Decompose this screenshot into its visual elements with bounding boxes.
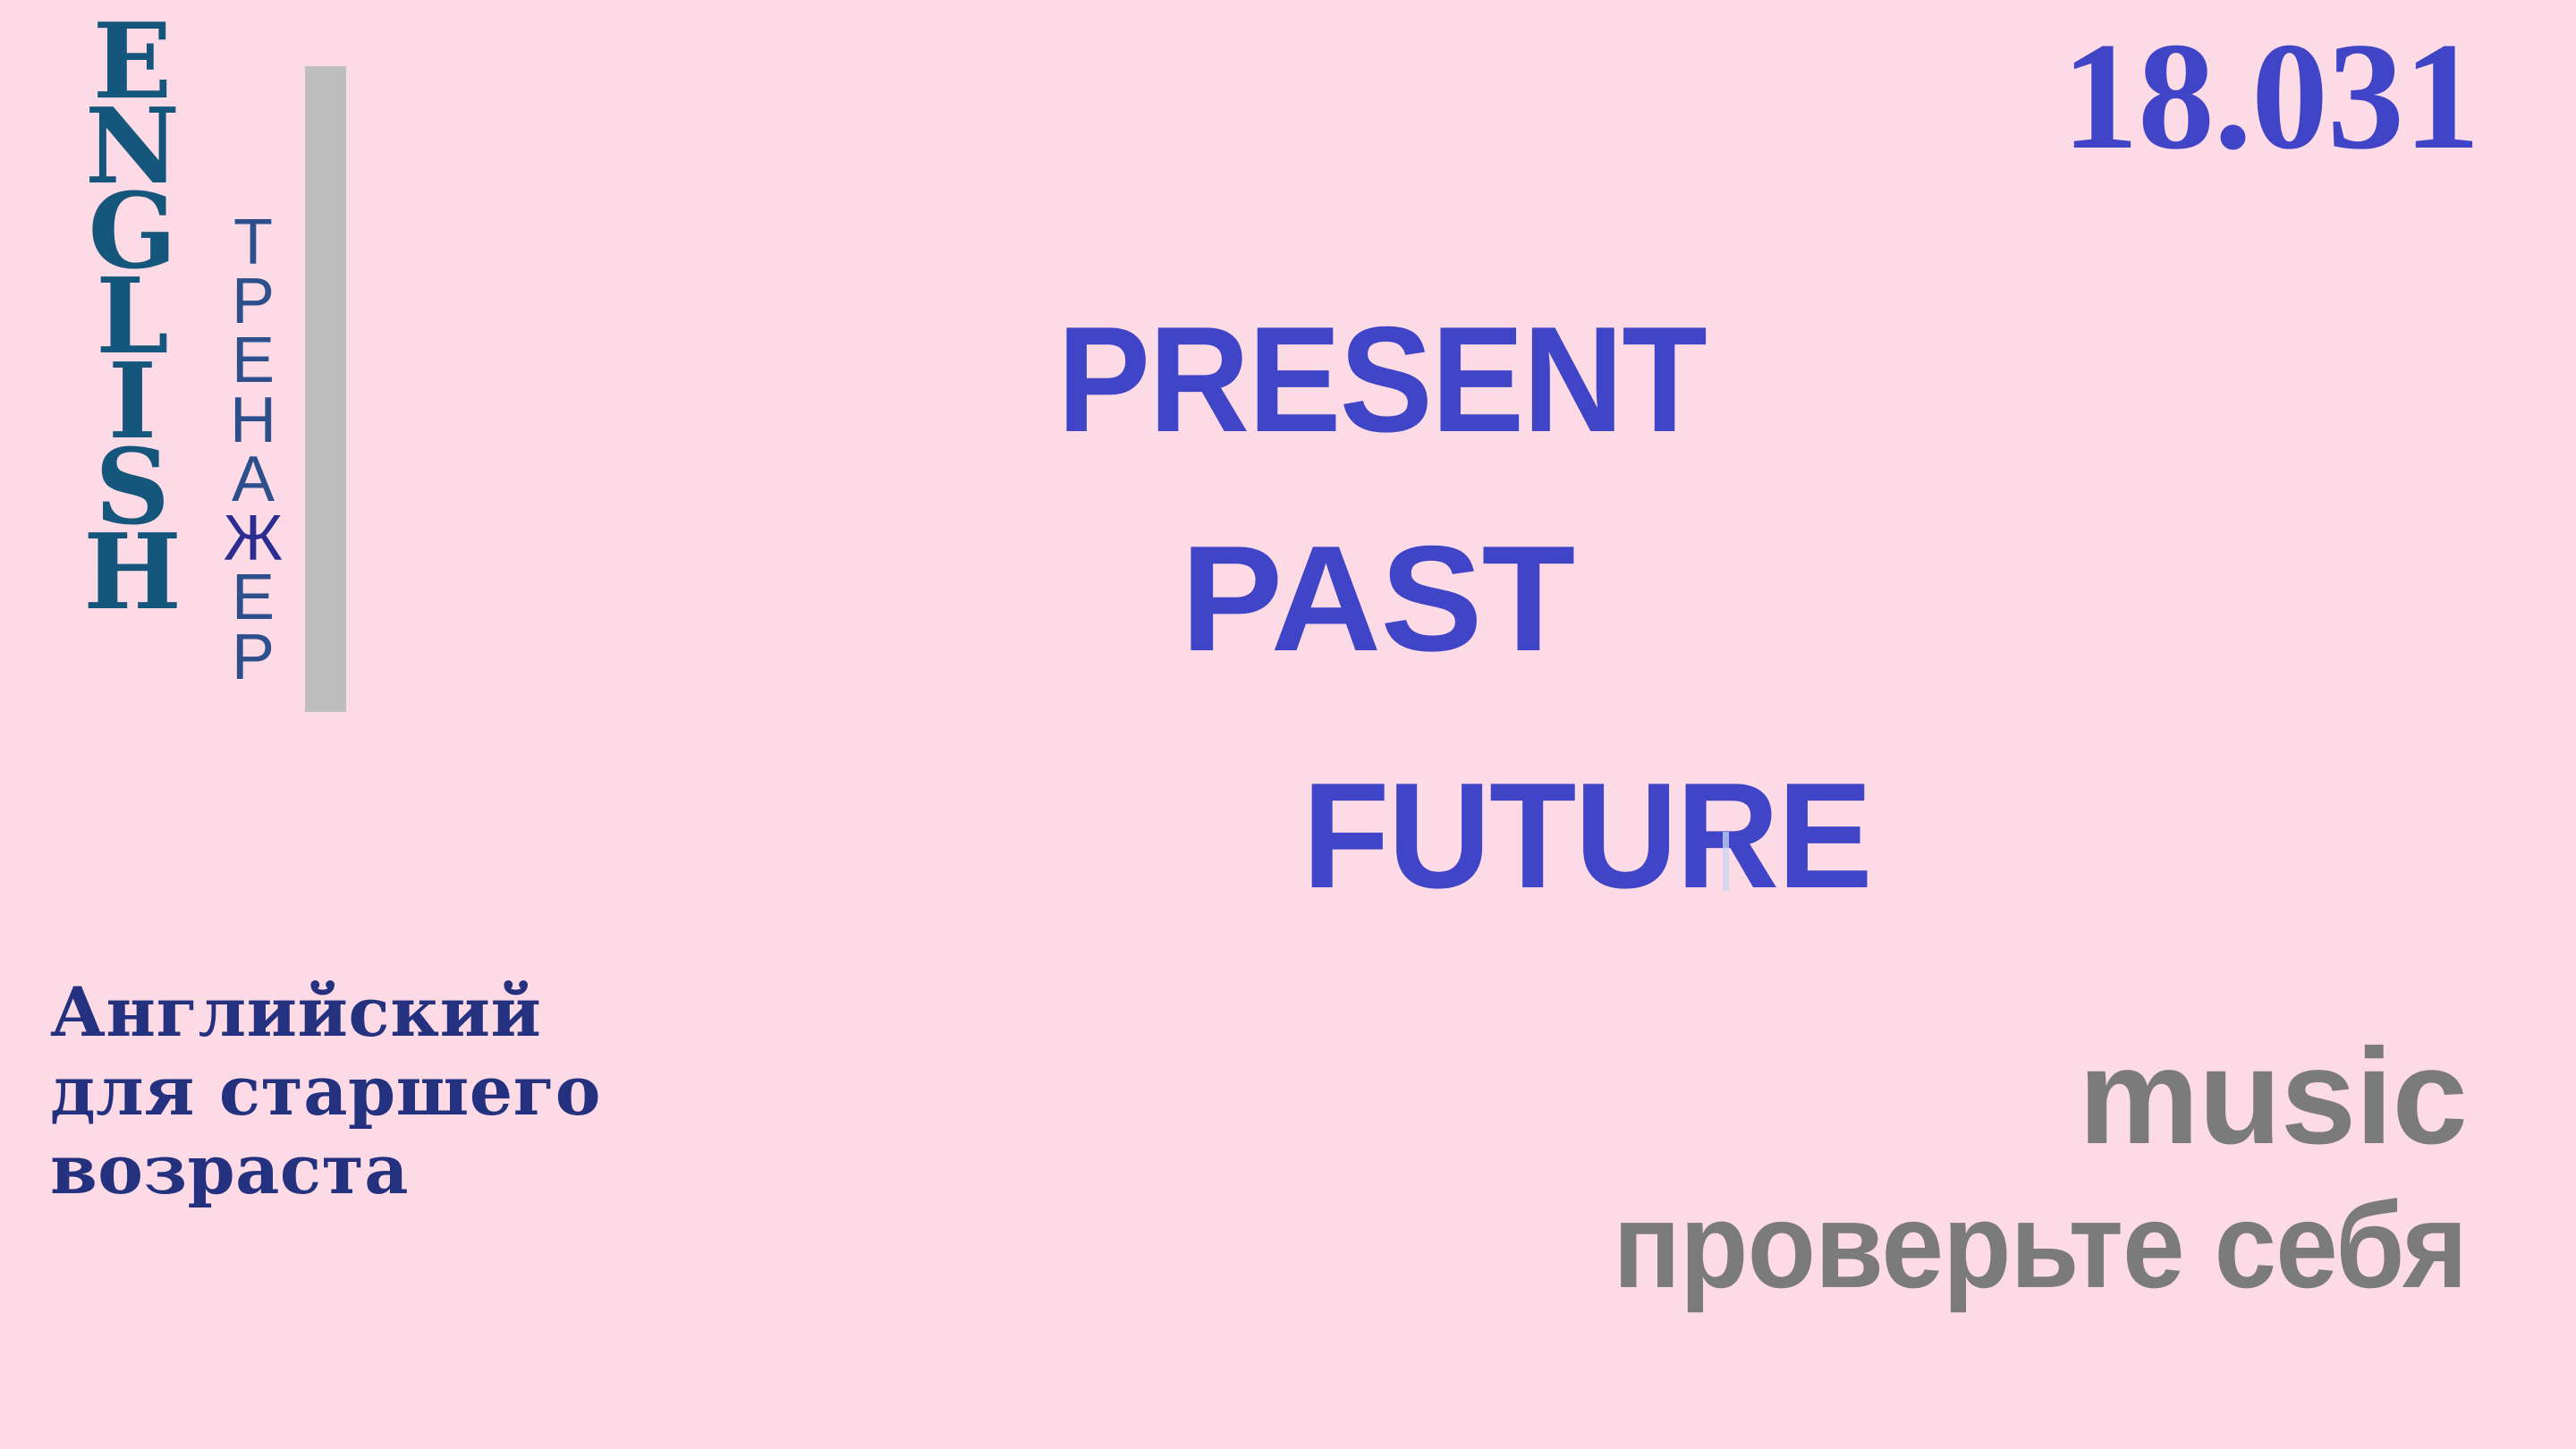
- trainer-letter: Е: [232, 568, 275, 627]
- trainer-letter: Р: [232, 272, 275, 331]
- check-yourself-note: проверьте себя: [1430, 1184, 2467, 1306]
- trainer-letter: Р: [232, 628, 275, 687]
- subtitle-line: возраста: [50, 1131, 601, 1209]
- lesson-slide: E N G L I S H Т Р Е Н А Ж Е Р 18.031 PRE…: [0, 0, 2576, 1449]
- trainer-letter: Т: [233, 213, 273, 272]
- trainer-letter: Е: [232, 331, 275, 390]
- tense-future: FUTURE: [1302, 760, 1871, 911]
- trainer-letter: Ж: [224, 509, 283, 568]
- tense-list: PRESENT PAST FUTURE: [984, 268, 1932, 948]
- footer-notes: music проверьте себя: [1340, 1029, 2467, 1306]
- english-letter: H: [83, 530, 182, 615]
- subtitle-line: для старшего: [50, 1052, 601, 1131]
- tense-present: PRESENT: [1057, 304, 1706, 454]
- image-artifact-streak: [1723, 832, 1729, 891]
- trainer-letter: Н: [230, 391, 276, 450]
- music-note: music: [1340, 1029, 2467, 1165]
- brand-block: E N G L I S H Т Р Е Н А Ж Е Р: [0, 0, 394, 751]
- tense-past: PAST: [1181, 523, 1574, 674]
- course-subtitle: Английский для старшего возраста: [50, 973, 601, 1209]
- subtitle-line: Английский: [50, 973, 601, 1052]
- vertical-divider-bar: [305, 66, 346, 712]
- english-vertical-wordmark: E N G L I S H: [52, 20, 213, 615]
- lesson-number: 18.031: [2062, 20, 2479, 174]
- trainer-vertical-wordmark: Т Р Е Н А Ж Е Р: [204, 213, 302, 687]
- trainer-letter: А: [232, 450, 275, 509]
